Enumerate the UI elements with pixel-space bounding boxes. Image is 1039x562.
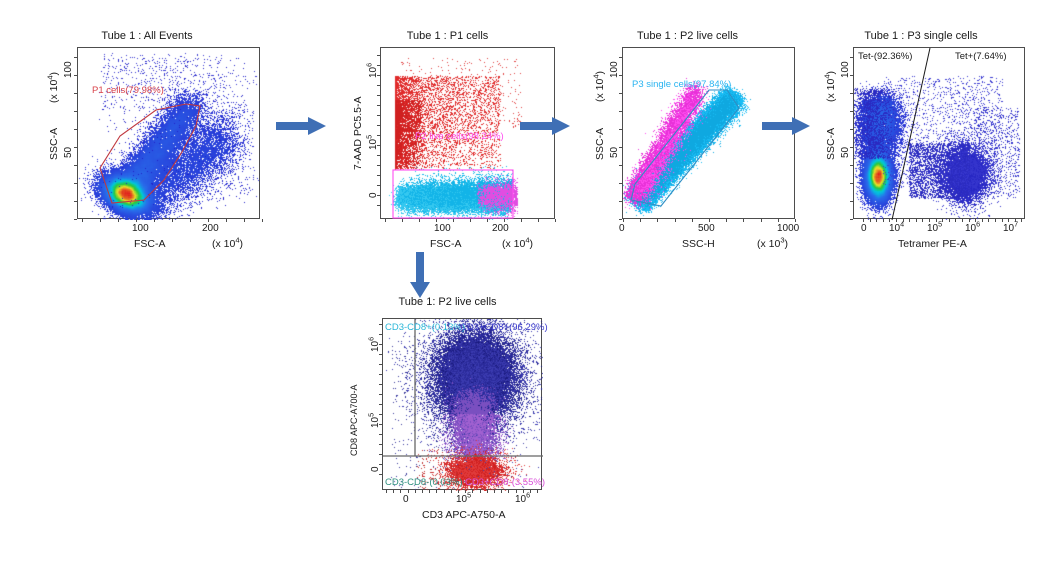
x-tick-mark (402, 219, 403, 222)
y-tick-mark (377, 75, 380, 76)
y-tick-mark (619, 147, 622, 148)
x-tick-1e5: 105 (927, 223, 942, 234)
gate-overlay (78, 48, 261, 220)
panel-title: Tube 1 : P1 cells (330, 30, 565, 42)
y-tick-1e5: 105 (370, 413, 381, 428)
y-tick-mark (619, 201, 622, 202)
x-tick-mark (778, 219, 779, 222)
y-tick-mark (379, 394, 382, 395)
x-tick-mark (436, 490, 437, 493)
y-tick-mark (379, 344, 382, 345)
x-tick-mark (494, 490, 495, 493)
x-axis-label: FSC-A (134, 238, 166, 250)
x-tick-mark (465, 490, 466, 493)
y-tick-mark (379, 324, 382, 325)
gate-label-p2: P2 live cells(98.24%) (415, 131, 504, 142)
y-tick-mark (377, 105, 380, 106)
gate-rect-p2[interactable] (393, 170, 513, 218)
x-tick-0: 0 (403, 494, 409, 505)
x-tick-1e7: 107 (1003, 223, 1018, 234)
y-tick-mark (377, 65, 380, 66)
x-tick-mark (487, 219, 488, 222)
x-tick-100: 100 (132, 223, 149, 234)
x-tick-mark (623, 219, 624, 222)
x-tick-1e5: 105 (456, 494, 471, 505)
plot-frame (382, 318, 542, 490)
y-tick-mark (377, 135, 380, 136)
y-tick-1e5: 105 (368, 135, 379, 150)
y-tick-100: 100 (63, 61, 74, 78)
y-tick-mark (850, 201, 853, 202)
x-tick-mark (400, 490, 401, 493)
y-tick-mark (850, 57, 853, 58)
x-tick-mark (922, 219, 923, 222)
y-tick-mark (619, 129, 622, 130)
x-tick-mark (436, 219, 437, 222)
panel-all-events: Tube 1 : All Events P1 cells(79.98%) SSC… (22, 30, 272, 260)
y-tick-mark (850, 75, 853, 76)
x-tick-mark (516, 490, 517, 493)
x-tick-mark (936, 219, 937, 222)
y-tick-mark (379, 354, 382, 355)
x-tick-0: 0 (619, 223, 625, 234)
x-tick-mark (393, 490, 394, 493)
y-axis-label: SSC-A (48, 128, 60, 160)
x-tick-mark (470, 219, 471, 222)
x-axis-multiplier: (x 104) (212, 238, 243, 250)
x-tick-mark (451, 490, 452, 493)
x-tick-mark (929, 219, 930, 222)
x-tick-mark (962, 219, 963, 222)
y-tick-mark (377, 95, 380, 96)
x-tick-1e4: 104 (889, 223, 904, 234)
x-tick-mark (709, 219, 710, 222)
gate-label-cd3neg-cd8pos: CD3-CD8+(0.13%) (385, 322, 465, 333)
x-tick-mark (640, 219, 641, 222)
y-tick-mark (377, 205, 380, 206)
y-tick-mark (850, 147, 853, 148)
x-tick-mark (408, 490, 409, 493)
y-axis-label: SSC-A (594, 128, 606, 160)
y-tick-mark (379, 464, 382, 465)
x-tick-mark (657, 219, 658, 222)
x-tick-mark (523, 490, 524, 493)
x-tick-mark (863, 219, 864, 222)
x-tick-mark (136, 219, 137, 222)
panel-p3-single-cells: Tube 1 : P3 single cells Tet-(92.36%) Te… (805, 30, 1037, 260)
x-axis-label: Tetramer PE-A (898, 238, 967, 250)
y-tick-mark (74, 93, 77, 94)
y-tick-mark (379, 364, 382, 365)
x-tick-mark (896, 219, 897, 222)
y-tick-mark (379, 404, 382, 405)
gate-label-tet-positive: Tet+(7.64%) (955, 51, 1007, 62)
x-tick-mark (1021, 219, 1022, 222)
y-tick-mark (74, 75, 77, 76)
panel-cd3-cd8-quadrants: Tube 1: P2 live cells CD3-CD8+(0.13%) CD… (330, 296, 565, 536)
y-tick-mark (379, 444, 382, 445)
panel-title: Tube 1 : P2 live cells (570, 30, 805, 42)
y-axis-label: 7-AAD PC5.5-A (352, 96, 364, 170)
gate-label-p1: P1 cells(79.98%) (92, 85, 164, 96)
x-tick-mark (743, 219, 744, 222)
y-tick-mark (619, 111, 622, 112)
y-tick-50: 50 (63, 147, 74, 158)
y-tick-mark (379, 384, 382, 385)
y-tick-mark (619, 165, 622, 166)
y-tick-mark (377, 195, 380, 196)
y-tick-0: 0 (370, 466, 381, 472)
y-tick-mark (377, 145, 380, 146)
y-axis-multiplier: (x 104) (825, 71, 837, 102)
gate-label-cd3pos-cd8pos: CD3+CD8+(96.29%) (460, 322, 548, 333)
x-tick-mark (883, 219, 884, 222)
x-tick-mark (909, 219, 910, 222)
x-tick-mark (537, 490, 538, 493)
x-tick-mark (504, 219, 505, 222)
y-tick-mark (377, 155, 380, 156)
y-tick-mark (850, 219, 853, 220)
y-tick-mark (377, 185, 380, 186)
y-tick-50: 50 (609, 147, 620, 158)
y-tick-mark (850, 111, 853, 112)
gate-polygon-p1[interactable] (100, 104, 200, 203)
x-tick-mark (472, 490, 473, 493)
x-tick-mark (444, 490, 445, 493)
y-tick-mark (74, 147, 77, 148)
y-tick-mark (619, 219, 622, 220)
x-axis-label: CD3 APC-A750-A (422, 509, 505, 521)
y-tick-mark (619, 183, 622, 184)
x-tick-mark (692, 219, 693, 222)
x-tick-100: 100 (434, 223, 451, 234)
gate-label-p3: P3 single cells(97.84%) (632, 79, 731, 90)
plot-frame (77, 47, 260, 219)
x-tick-mark (903, 219, 904, 222)
gate-label-cd3pos-cd8neg: CD3+CD8-(3.55%) (465, 477, 545, 488)
y-tick-mark (379, 454, 382, 455)
x-tick-mark (726, 219, 727, 222)
plot-frame (853, 47, 1025, 219)
arrow-p1-to-p2 (276, 115, 326, 142)
y-axis-label: CD8 APC-A700-A (349, 384, 359, 456)
y-tick-mark (74, 201, 77, 202)
x-tick-mark (521, 219, 522, 222)
x-tick-mark (262, 219, 263, 222)
gate-polygon-p3[interactable] (631, 90, 739, 206)
x-tick-mark (1002, 219, 1003, 222)
x-tick-mark (975, 219, 976, 222)
x-tick-mark (244, 219, 245, 222)
y-axis-multiplier: (x 104) (48, 72, 60, 103)
arrow-p3-to-p4 (762, 115, 810, 142)
y-tick-mark (74, 129, 77, 130)
x-tick-mark (82, 219, 83, 222)
x-axis-multiplier: (x 103) (757, 238, 788, 250)
y-tick-mark (377, 125, 380, 126)
y-tick-mark (379, 474, 382, 475)
x-tick-mark (487, 490, 488, 493)
x-tick-mark (675, 219, 676, 222)
x-tick-mark (949, 219, 950, 222)
x-tick-mark (429, 490, 430, 493)
x-tick-mark (889, 219, 890, 222)
y-tick-mark (377, 85, 380, 86)
x-tick-mark (530, 490, 531, 493)
y-tick-mark (619, 75, 622, 76)
x-tick-mark (942, 219, 943, 222)
x-tick-mark (995, 219, 996, 222)
y-axis-label: SSC-A (825, 128, 837, 160)
gate-overlay (854, 48, 1026, 220)
x-tick-mark (501, 490, 502, 493)
arrow-p2-to-p3 (520, 115, 570, 142)
y-tick-mark (379, 434, 382, 435)
y-tick-mark (377, 175, 380, 176)
y-tick-mark (619, 93, 622, 94)
y-tick-mark (74, 165, 77, 166)
x-tick-mark (172, 219, 173, 222)
y-tick-mark (850, 165, 853, 166)
x-tick-mark (876, 219, 877, 222)
x-tick-mark (415, 490, 416, 493)
panel-title: Tube 1 : All Events (22, 30, 272, 42)
x-axis-label: SSC-H (682, 238, 715, 250)
x-tick-mark (916, 219, 917, 222)
x-tick-1e6: 106 (515, 494, 530, 505)
y-axis-multiplier: (x 104) (594, 71, 606, 102)
y-tick-mark (379, 374, 382, 375)
x-tick-1e6: 106 (965, 223, 980, 234)
y-tick-mark (74, 219, 77, 220)
gate-label-cd3neg-cd8neg: CD3-CD8-(0.03%) (385, 477, 463, 488)
x-axis-multiplier: (x 104) (502, 238, 533, 250)
y-tick-mark (377, 115, 380, 116)
y-tick-mark (850, 129, 853, 130)
x-tick-mark (1008, 219, 1009, 222)
y-tick-mark (850, 93, 853, 94)
x-tick-mark (458, 490, 459, 493)
x-tick-200: 200 (492, 223, 509, 234)
x-tick-mark (1015, 219, 1016, 222)
x-tick-mark (226, 219, 227, 222)
x-tick-mark (386, 490, 387, 493)
gate-divider-line[interactable] (892, 48, 930, 220)
x-tick-mark (555, 219, 556, 222)
y-tick-mark (74, 57, 77, 58)
panel-p1-cells: Tube 1 : P1 cells P2 live cells(98.24%) … (330, 30, 565, 260)
y-tick-mark (379, 424, 382, 425)
x-tick-1000: 1000 (777, 223, 799, 234)
x-tick-500: 500 (698, 223, 715, 234)
x-tick-mark (419, 219, 420, 222)
panel-title: Tube 1: P2 live cells (330, 296, 565, 308)
x-tick-mark (385, 219, 386, 222)
y-tick-mark (850, 183, 853, 184)
y-tick-50: 50 (840, 147, 851, 158)
x-tick-mark (795, 219, 796, 222)
y-tick-mark (379, 414, 382, 415)
y-tick-mark (377, 55, 380, 56)
x-tick-mark (100, 219, 101, 222)
x-tick-mark (422, 490, 423, 493)
x-tick-mark (480, 490, 481, 493)
x-tick-mark (870, 219, 871, 222)
x-tick-mark (761, 219, 762, 222)
x-tick-mark (969, 219, 970, 222)
x-tick-mark (508, 490, 509, 493)
x-tick-0: 0 (861, 223, 867, 234)
x-tick-mark (988, 219, 989, 222)
x-tick-mark (118, 219, 119, 222)
quadrant-overlay (383, 319, 543, 491)
x-tick-mark (538, 219, 539, 222)
y-tick-mark (74, 111, 77, 112)
y-tick-mark (74, 183, 77, 184)
x-tick-mark (190, 219, 191, 222)
y-tick-mark (377, 165, 380, 166)
panel-p2-live-cells: Tube 1 : P2 live cells P3 single cells(9… (570, 30, 805, 260)
gate-label-tet-negative: Tet-(92.36%) (858, 51, 912, 62)
x-tick-mark (154, 219, 155, 222)
x-tick-mark (453, 219, 454, 222)
x-tick-mark (955, 219, 956, 222)
y-tick-mark (379, 334, 382, 335)
y-tick-mark (619, 57, 622, 58)
x-axis-label: FSC-A (430, 238, 462, 250)
panel-title: Tube 1 : P3 single cells (805, 30, 1037, 42)
x-tick-mark (208, 219, 209, 222)
x-tick-200: 200 (202, 223, 219, 234)
x-tick-mark (982, 219, 983, 222)
